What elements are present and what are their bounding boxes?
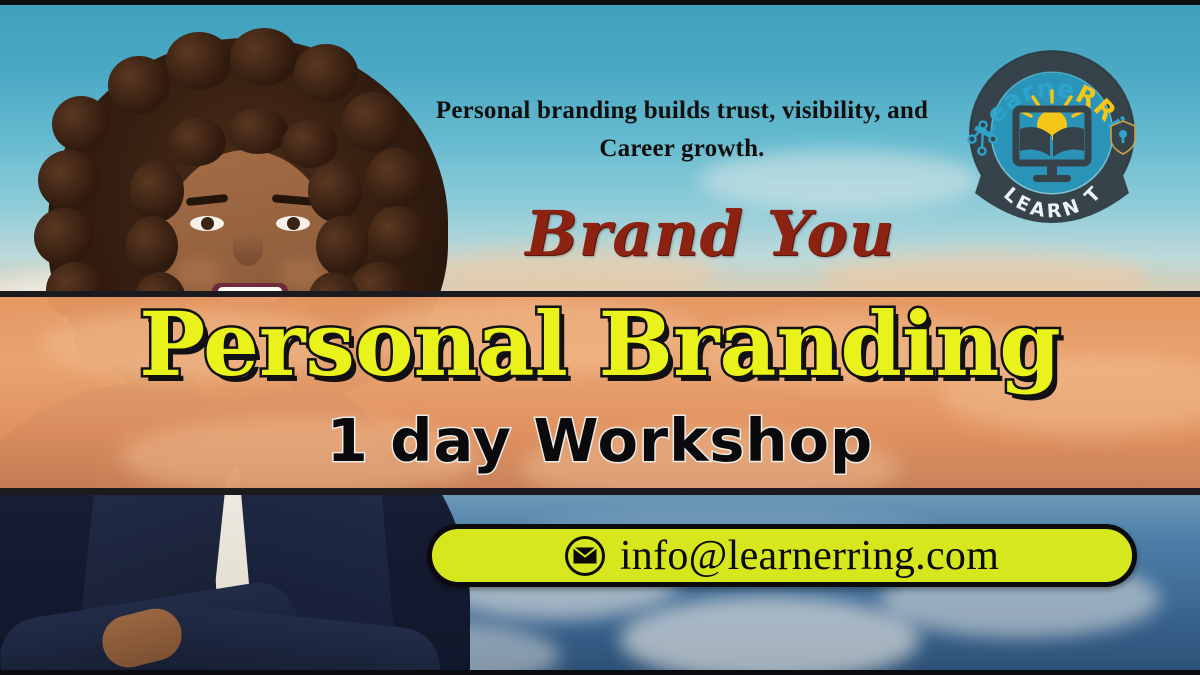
- email-address[interactable]: info@learnerring.com: [620, 535, 999, 577]
- subheadline: 1 day Workshop: [0, 411, 1200, 470]
- bottom-edge: [0, 670, 1200, 675]
- hair-curl: [368, 206, 426, 264]
- eye-right: [276, 216, 310, 231]
- hair-curl: [294, 44, 358, 102]
- promo-poster: Personal branding builds trust, visibili…: [0, 0, 1200, 675]
- hair-curl: [108, 56, 170, 114]
- hair-curl: [34, 208, 94, 266]
- shield-lock-icon: [1111, 121, 1135, 154]
- hair-curl-front: [168, 118, 226, 166]
- hair-curl-front: [308, 160, 362, 222]
- nose: [233, 232, 263, 266]
- hair-curl: [230, 28, 298, 86]
- hair-curl-front: [130, 160, 184, 222]
- hair-curl: [38, 150, 100, 210]
- hair-curl: [52, 96, 110, 152]
- envelope-icon: [565, 536, 605, 576]
- hair-curl-front: [316, 216, 368, 276]
- hair-curl-front: [282, 120, 338, 168]
- hair-curl-front: [228, 108, 288, 154]
- hair-curl-front: [126, 216, 178, 276]
- email-contact-bar[interactable]: info@learnerring.com: [427, 524, 1137, 587]
- eye-left: [190, 216, 224, 231]
- tagline-line-2: Career growth.: [392, 130, 972, 168]
- learnerring-logo[interactable]: LearneRRing: [963, 47, 1141, 225]
- tagline-line-1: Personal branding builds trust, visibili…: [392, 92, 972, 130]
- headline: Personal Branding: [0, 300, 1200, 388]
- cloud-puff: [620, 596, 920, 675]
- eyebrow-title: Brand You: [430, 203, 990, 265]
- top-edge: [0, 0, 1200, 5]
- hair-curl: [166, 32, 232, 90]
- tagline: Personal branding builds trust, visibili…: [392, 92, 972, 168]
